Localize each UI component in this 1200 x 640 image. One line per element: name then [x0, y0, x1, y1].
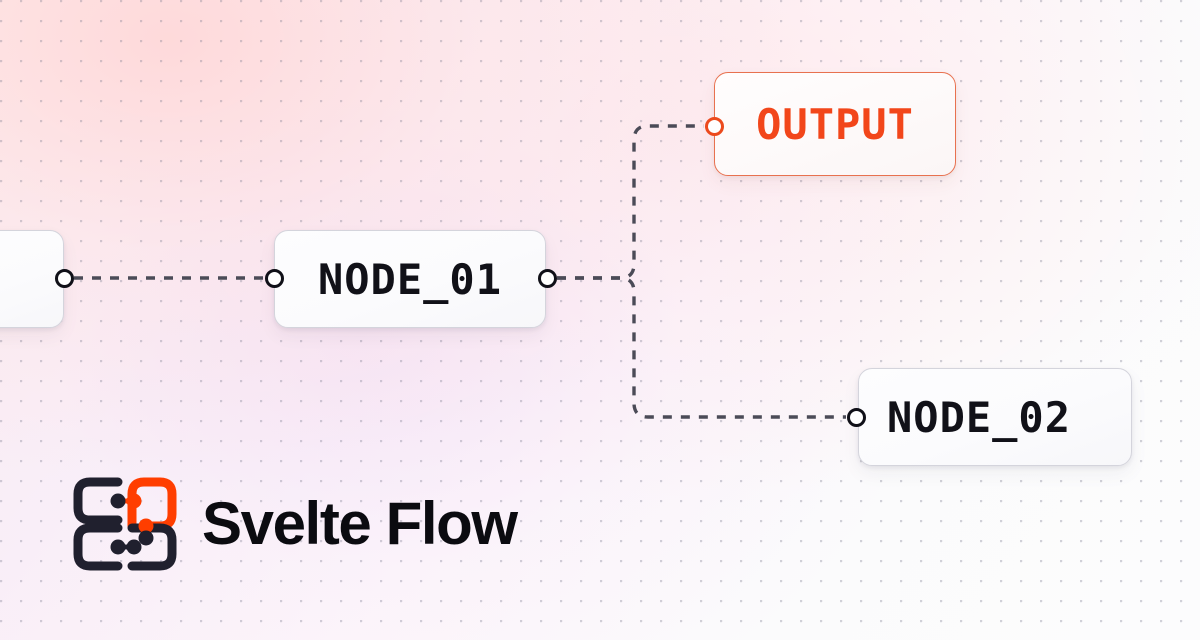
flow-node-output[interactable]: OUTPUT — [714, 72, 956, 176]
handle-node01-source[interactable] — [538, 269, 557, 288]
brand-name: Svelte Flow — [202, 494, 517, 554]
flow-node-node-02-label: NODE_02 — [887, 393, 1071, 442]
handle-input-source[interactable] — [55, 269, 74, 288]
handle-node01-target[interactable] — [265, 269, 284, 288]
logo-dot-top-left — [111, 494, 126, 509]
logo-dot-top-right — [127, 494, 142, 509]
logo-dot-bottom-right — [127, 540, 142, 555]
svelte-flow-logo-icon — [72, 476, 178, 572]
svelte-flow-logo-svg — [72, 476, 178, 572]
logo-dot-mid-navy — [139, 531, 154, 546]
flow-node-node-01-label: NODE_01 — [318, 255, 502, 304]
flow-node-output-label: OUTPUT — [756, 100, 914, 149]
handle-node02-target[interactable] — [847, 408, 866, 427]
flow-canvas[interactable]: NODE_01 OUTPUT NODE_02 — [0, 0, 1200, 640]
flow-node-node-02[interactable]: NODE_02 — [858, 368, 1132, 466]
flow-node-node-01[interactable]: NODE_01 — [274, 230, 546, 328]
handle-output-target[interactable] — [705, 117, 724, 136]
logo-dot-bottom-left — [111, 540, 126, 555]
brand-logo: Svelte Flow — [72, 476, 517, 572]
